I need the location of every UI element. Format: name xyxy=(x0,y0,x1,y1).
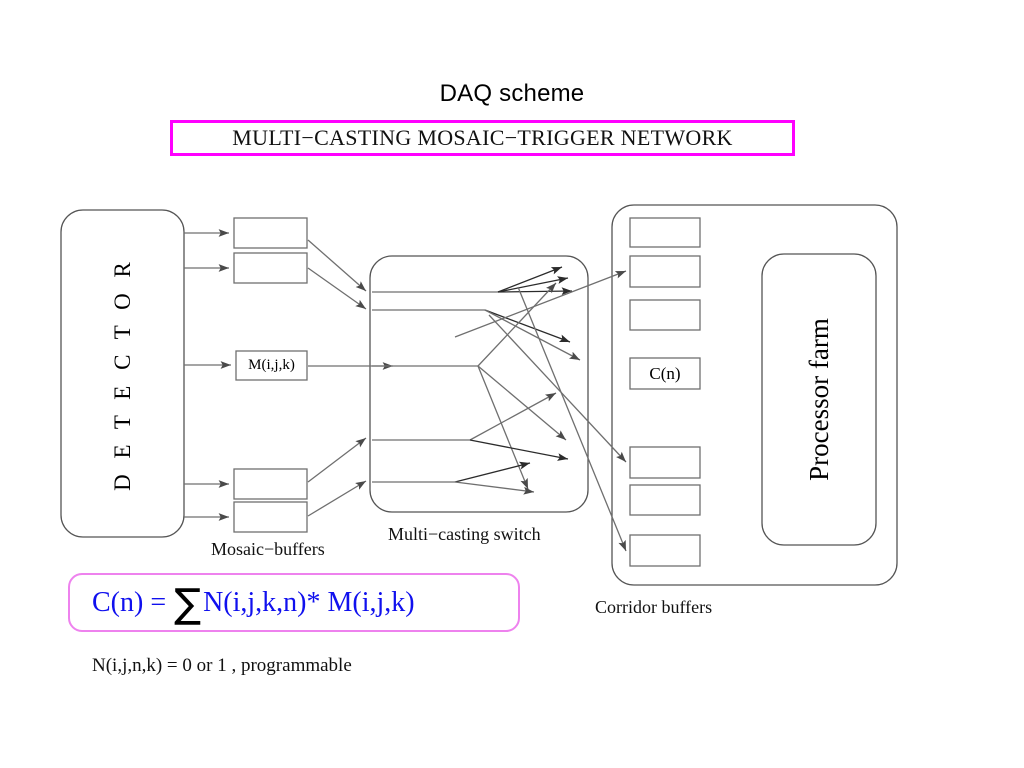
corridor-buffer-label-cn: C(n) xyxy=(630,358,700,389)
banner: MULTI−CASTING MOSAIC−TRIGGER NETWORK xyxy=(170,120,795,156)
banner-text: MULTI−CASTING MOSAIC−TRIGGER NETWORK xyxy=(232,125,732,151)
mosaic-buffer-box-4 xyxy=(234,469,307,499)
mosaic-buffers-caption: Mosaic−buffers xyxy=(211,539,325,560)
corridor-buffer-box-1 xyxy=(630,218,700,247)
formula-note: N(i,j,n,k) = 0 or 1 , programmable xyxy=(92,655,352,677)
arrow-mb4-to-switch xyxy=(308,438,366,482)
diagram-vector-layer xyxy=(0,0,1024,768)
diagram-canvas: DAQ scheme MULTI−CASTING MOSAIC−TRIGGER … xyxy=(0,0,1024,768)
corridor-buffer-box-5 xyxy=(630,447,700,478)
corridor-buffer-box-2 xyxy=(630,256,700,287)
page-title: DAQ scheme xyxy=(0,80,1024,108)
corridor-buffer-box-3 xyxy=(630,300,700,330)
multicasting-switch-box xyxy=(370,256,588,512)
arrow-mb1-to-switch xyxy=(308,240,366,291)
mosaic-buffer-box-5 xyxy=(234,502,307,532)
detector-box xyxy=(61,210,184,537)
arrow-mb2-to-switch xyxy=(308,268,366,309)
processor-farm-box xyxy=(762,254,876,545)
summation-icon: ∑ xyxy=(172,584,203,624)
arrow-mb5-to-switch xyxy=(308,481,366,516)
multicasting-switch-caption: Multi−casting switch xyxy=(388,524,541,545)
formula: C(n) = ∑ N(i,j,k,n)* M(i,j,k) xyxy=(70,583,415,623)
mosaic-buffer-label-m: M(i,j,k) xyxy=(236,351,307,380)
formula-lhs: C(n) = xyxy=(92,587,172,619)
formula-rhs: N(i,j,k,n)* M(i,j,k) xyxy=(203,587,415,619)
mosaic-buffer-box-2 xyxy=(234,253,307,283)
corridor-buffer-box-7 xyxy=(630,535,700,566)
formula-box: C(n) = ∑ N(i,j,k,n)* M(i,j,k) xyxy=(68,573,520,632)
corridor-buffers-caption: Corridor buffers xyxy=(595,597,712,618)
corridor-buffer-box-6 xyxy=(630,485,700,515)
mosaic-buffer-box-1 xyxy=(234,218,307,248)
